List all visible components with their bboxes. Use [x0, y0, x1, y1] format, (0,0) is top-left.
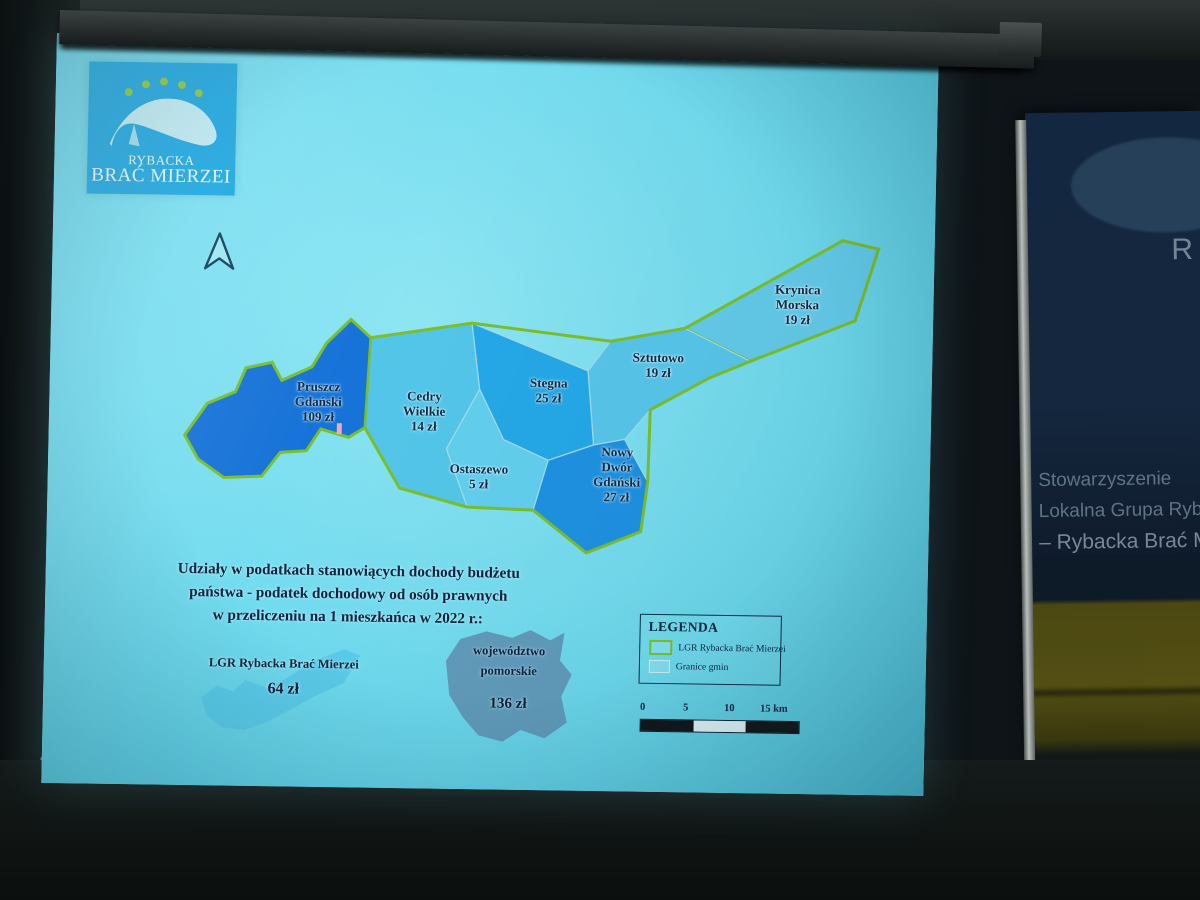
inset-pomorskie-name-line1: województwo [434, 643, 584, 660]
roller-end-cap [999, 22, 1042, 57]
projection-screen: PruszczGdański109 zł CedryWielkie14 zł S… [41, 33, 939, 796]
inset-map-pomorskie: województwo pomorskie 136 zł [432, 617, 585, 759]
logo-fish-shape [110, 98, 218, 148]
map-label-ostaszewo: Ostaszewo5 zł [432, 461, 525, 492]
lgr-logo: RYBACKA BRAĆ MIERZEI [87, 61, 238, 195]
banner-text-line1: Stowarzyszenie [1038, 462, 1200, 496]
legend-item-gminy: Granice gmin [649, 660, 729, 674]
legend-title: LEGENDA [649, 619, 719, 636]
logo-fin-shape [129, 124, 140, 146]
logo-stars [125, 77, 203, 97]
scalebar-tick-10: 10 [724, 703, 735, 714]
scalebar-tick-15: 15 km [760, 703, 788, 714]
banner-logo-letter: R [1171, 233, 1194, 267]
scalebar-tick-5: 5 [683, 702, 688, 713]
inset-pomorskie-value: 136 zł [433, 695, 583, 714]
logo-text-line2: BRAĆ MIERZEI [87, 164, 235, 188]
banner-arc-logo [1070, 136, 1200, 234]
banner-text: Stowarzyszenie Lokalna Grupa Rybacka – R… [1038, 462, 1200, 558]
inset-pomorskie-name-line2: pomorskie [434, 663, 584, 680]
banner-text-line2: Lokalna Grupa Rybacka [1038, 493, 1200, 527]
scalebar-graphic [639, 719, 799, 734]
legend-swatch-lgr [649, 640, 672, 655]
legend-item-lgr: LGR Rybacka Brać Mierzei [649, 640, 786, 657]
logo-graphic [87, 61, 237, 163]
map-label-pruszcz-gdanski: PruszczGdański109 zł [272, 378, 365, 424]
legend-swatch-gminy [649, 660, 670, 673]
scalebar-tick-0: 0 [640, 702, 645, 713]
inset-lgr-name: LGR Rybacka Brać Mierzei [194, 655, 374, 673]
rollup-banner: R Stowarzyszenie Lokalna Grupa Rybacka –… [1025, 111, 1200, 813]
slide-content: PruszczGdański109 zł CedryWielkie14 zł S… [41, 33, 939, 796]
map-legend: LEGENDA LGR Rybacka Brać Mierzei Granice… [639, 614, 782, 686]
scalebar-seg-2 [693, 721, 746, 733]
photo-scene: R Stowarzyszenie Lokalna Grupa Rybacka –… [0, 0, 1200, 900]
map-label-sztutowo: Sztutowo19 zł [612, 349, 705, 380]
legend-label-lgr: LGR Rybacka Brać Mierzei [678, 642, 786, 655]
map-marker [337, 423, 342, 434]
legend-label-gminy: Granice gmin [676, 661, 729, 673]
map-label-nowy-dwor-gdanski: NowyDwórGdański27 zł [570, 444, 663, 505]
scalebar-ticks: 0 5 10 15 km [640, 702, 800, 719]
scalebar-seg-3 [746, 721, 799, 733]
map-label-cedry-wielkie: CedryWielkie14 zł [378, 388, 471, 434]
inset-map-lgr: LGR Rybacka Brać Mierzei 64 zł [192, 635, 374, 753]
map-label-stegna: Stegna25 zł [502, 375, 595, 406]
north-arrow-icon [202, 231, 237, 271]
map-scalebar: 0 5 10 15 km [639, 702, 800, 734]
scalebar-seg-1 [641, 720, 694, 732]
logo-text: RYBACKA BRAĆ MIERZEI [87, 151, 236, 188]
map-label-krynica-morska: KrynicaMorska19 zł [751, 281, 844, 327]
inset-lgr-value: 64 zł [193, 679, 373, 700]
